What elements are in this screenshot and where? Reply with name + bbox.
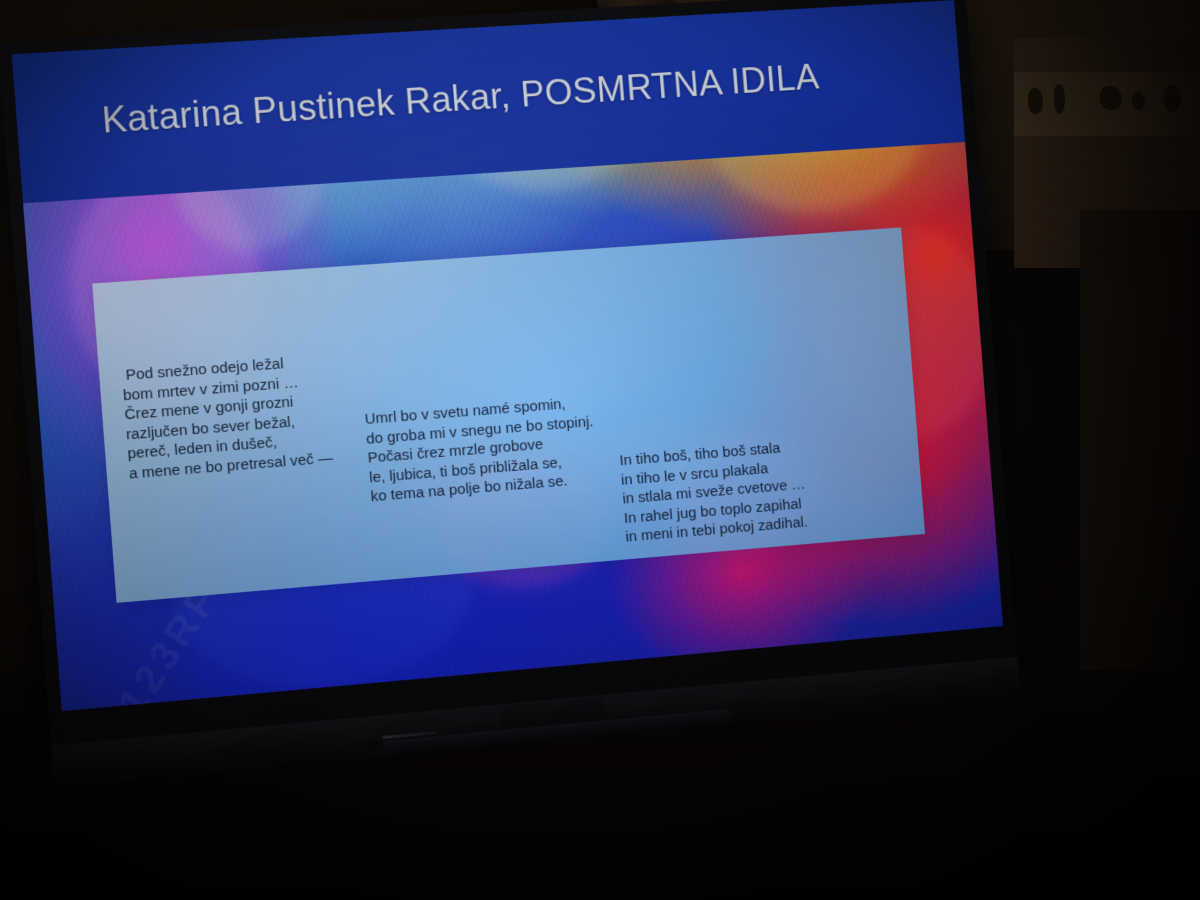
poem-stanza-3: In tiho boš, tiho boš stala in tiho le v… [619, 437, 809, 547]
presentation-slide: 123RF Katarina Pustinek Rakar, POSMRTNA … [12, 0, 1003, 711]
poem-stanza-2: Umrl bo v svetu namé spomin, do groba mi… [364, 393, 598, 507]
television: 123RF Katarina Pustinek Rakar, POSMRTNA … [0, 0, 1021, 788]
room-scene: 123RF Katarina Pustinek Rakar, POSMRTNA … [0, 0, 1200, 900]
tv-screen[interactable]: 123RF Katarina Pustinek Rakar, POSMRTNA … [12, 0, 1003, 711]
slide-title: Katarina Pustinek Rakar, POSMRTNA IDILA [100, 56, 820, 141]
wall-curtain-pattern-band [1014, 72, 1200, 136]
poem-stanza-1: Pod snežno odejo ležal bom mrtev v zimi … [121, 351, 334, 484]
